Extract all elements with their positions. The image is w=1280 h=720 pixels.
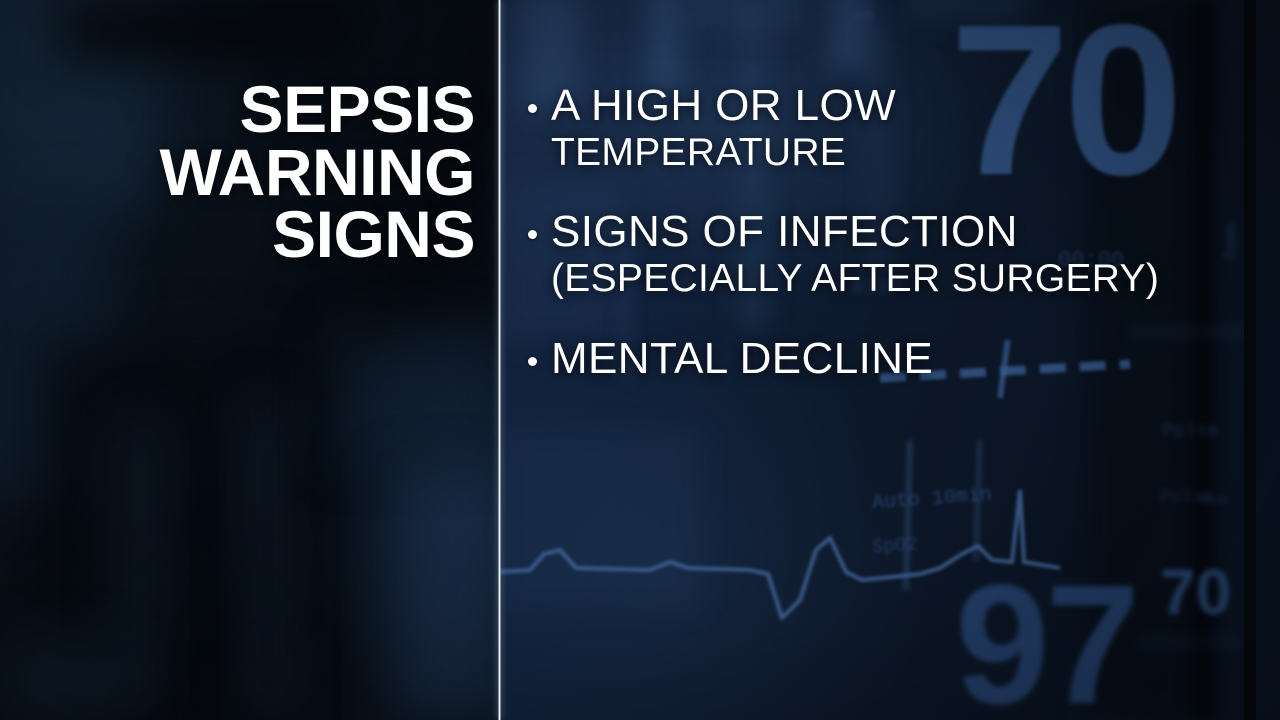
bullet-dot-icon: [528, 104, 537, 113]
bullet-dot-icon: [528, 230, 537, 239]
background-blur-shape: [830, 0, 870, 70]
title-line-3: SIGNS: [20, 203, 475, 266]
background-blur-shape: [120, 420, 160, 720]
monitor-spo2-label: SpO2: [871, 533, 918, 558]
list-item-label-line2: TEMPERATURE: [551, 132, 1268, 175]
list-item-label: A HIGH OR LOW: [551, 82, 896, 130]
warning-signs-list: A HIGH OR LOW TEMPERATURE SIGNS OF INFEC…: [528, 82, 1268, 382]
list-item: MENTAL DECLINE: [528, 335, 1268, 383]
background-blur-shape: [0, 640, 120, 720]
list-item-label: MENTAL DECLINE: [551, 335, 933, 383]
list-item-label: SIGNS OF INFECTION: [551, 208, 1018, 256]
background-blur-shape: [250, 400, 284, 720]
background-blur-shape: [685, 0, 805, 30]
title-line-1: SEPSIS: [20, 78, 475, 141]
monitor-hr-label: HR: [855, 8, 874, 26]
vertical-divider: [498, 0, 501, 720]
monitor-ecg-waveform: [500, 450, 1120, 620]
list-item: A HIGH OR LOW TEMPERATURE: [528, 82, 1268, 174]
background-blur-shape: [500, 430, 700, 610]
monitor-pulse-rate-value: 70: [1160, 560, 1231, 624]
slide-graphic: 70 97 70 HR Auto 10min SpO2 NIBP Pulse P…: [0, 0, 1280, 720]
monitor-pulse-label-2: Pulse: [1160, 488, 1214, 508]
background-blur-shape: [390, 470, 500, 720]
list-item-note: (ESPECIALLY AFTER SURGERY): [551, 258, 1268, 301]
monitor-bpm-label: bpm: [1200, 492, 1227, 509]
monitor-spo2-value: 97: [955, 560, 1136, 720]
background-blur-shape: [60, 0, 360, 60]
title-line-2: WARNING: [20, 141, 475, 204]
monitor-ecg-baseline-ticks: [880, 440, 1080, 620]
monitor-auto-interval-label: Auto 10min: [871, 484, 992, 515]
background-blur-shape: [905, 0, 1025, 20]
page-title: SEPSIS WARNING SIGNS: [20, 78, 475, 266]
background-blur-shape: [1140, 640, 1240, 645]
monitor-pulse-label-1: Pulse: [1162, 420, 1219, 442]
background-blur-shape: [650, 0, 680, 90]
bullet-dot-icon: [528, 357, 537, 366]
background-blur-shape: [330, 330, 500, 460]
list-item: SIGNS OF INFECTION (ESPECIALLY AFTER SUR…: [528, 208, 1268, 300]
